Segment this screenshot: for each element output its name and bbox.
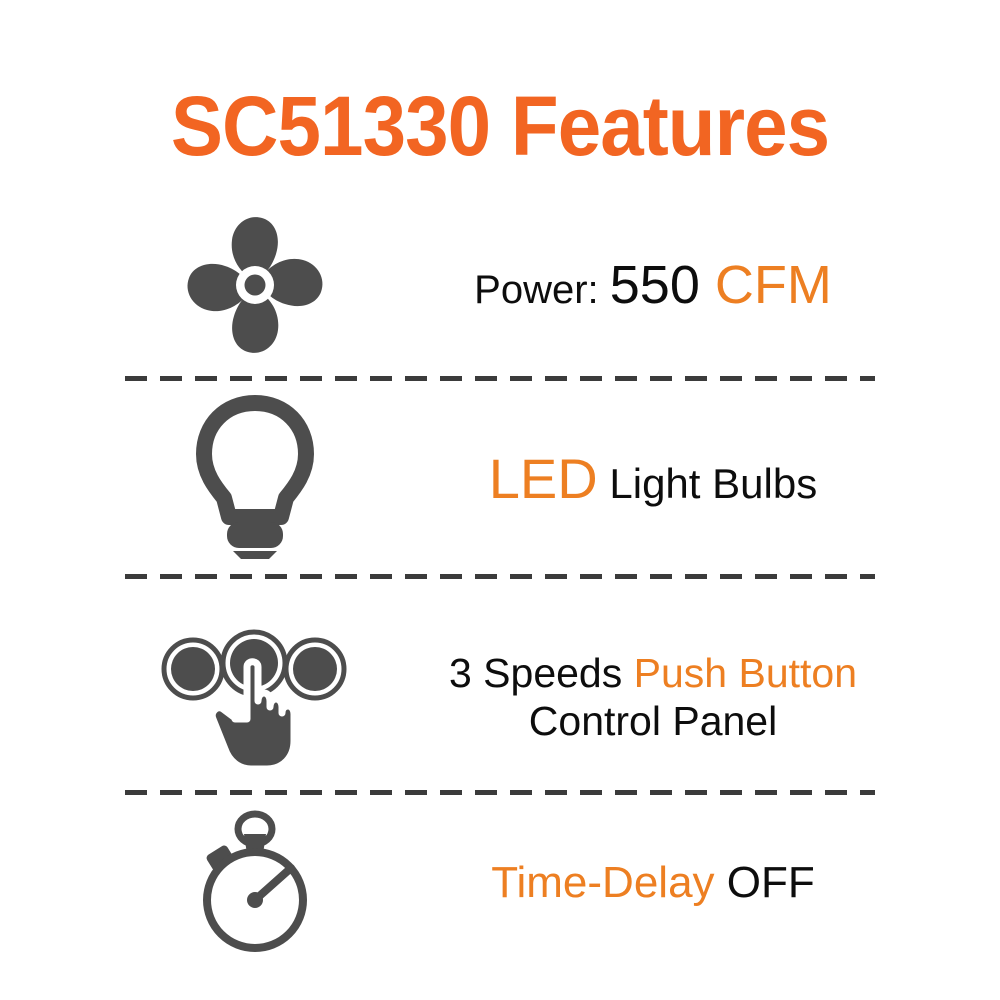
- fan-icon-cell: [110, 212, 400, 358]
- push-button-keyword: Push Button: [634, 650, 857, 696]
- light-bulb-icon-cell: [110, 399, 400, 559]
- led-description: Light Bulbs: [598, 460, 817, 507]
- speed-button-1: [164, 640, 222, 698]
- push-button-panel-icon: [155, 623, 355, 773]
- timer-label-line: Time-Delay OFF: [491, 857, 815, 908]
- speeds-count-label: 3 Speeds: [449, 650, 634, 696]
- divider-3: [125, 790, 875, 795]
- power-text-cell: Power: 550 CFM: [400, 254, 900, 317]
- feature-row-led: LED Light Bulbs: [110, 398, 900, 560]
- light-bulb-icon: [197, 399, 313, 559]
- power-label-line: Power: 550 CFM: [474, 254, 832, 317]
- led-text-cell: LED Light Bulbs: [400, 447, 900, 512]
- fan-icon: [180, 212, 330, 358]
- stopwatch-icon: [191, 812, 319, 954]
- power-value: 550: [610, 255, 715, 315]
- speeds-label-line-2: Control Panel: [529, 698, 777, 746]
- speeds-text-cell: 3 Speeds Push Button Control Panel: [400, 650, 900, 745]
- speeds-label-line-1: 3 Speeds Push Button: [449, 650, 857, 698]
- divider-1: [125, 376, 875, 381]
- feature-row-power: Power: 550 CFM: [110, 210, 900, 360]
- push-button-panel-icon-cell: [110, 623, 400, 773]
- feature-row-timer: Time-Delay OFF: [110, 812, 900, 954]
- power-unit: CFM: [715, 255, 832, 315]
- feature-row-speeds: 3 Speeds Push Button Control Panel: [110, 620, 900, 776]
- power-prefix: Power:: [474, 268, 610, 312]
- control-panel-label: Control Panel: [529, 698, 777, 744]
- divider-2: [125, 574, 875, 579]
- time-delay-keyword: Time-Delay: [491, 858, 727, 907]
- timer-text-cell: Time-Delay OFF: [400, 857, 900, 908]
- led-keyword: LED: [489, 447, 598, 510]
- page-title: SC51330 Features: [35, 78, 965, 174]
- stopwatch-icon-cell: [110, 812, 400, 954]
- time-delay-state: OFF: [727, 858, 815, 907]
- led-label-line: LED Light Bulbs: [489, 447, 817, 512]
- speed-button-3: [286, 640, 344, 698]
